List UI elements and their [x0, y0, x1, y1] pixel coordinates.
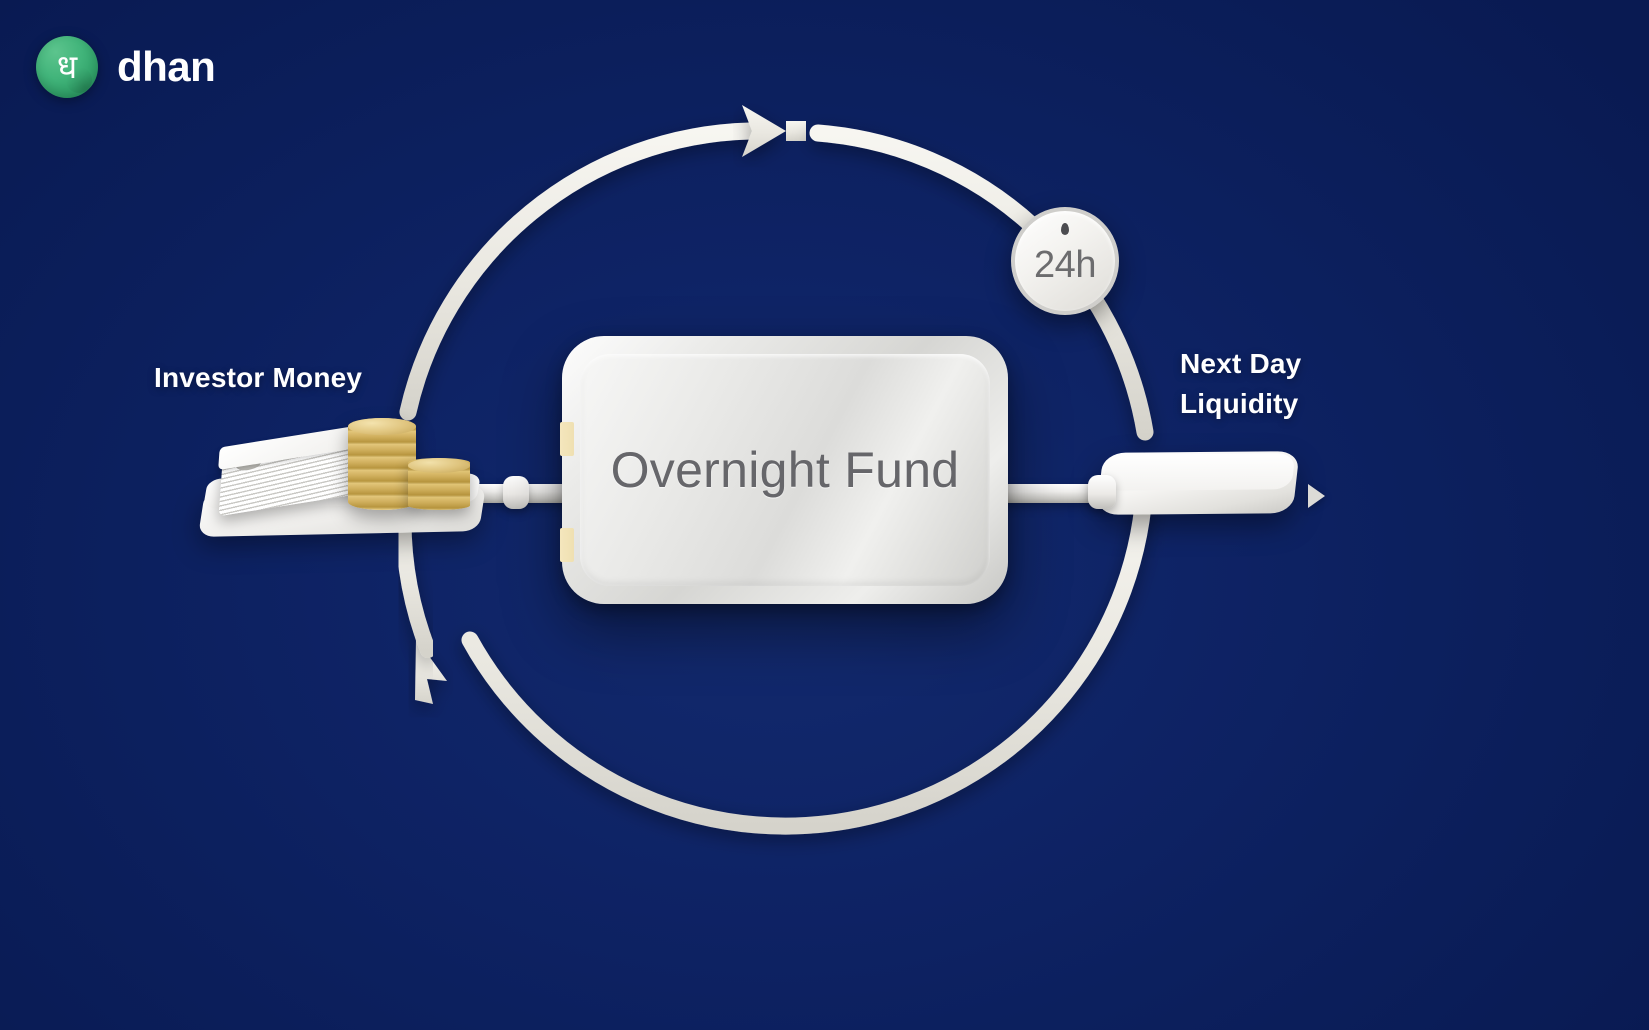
- output-flow-arrow-icon: [1308, 484, 1325, 508]
- overnight-fund-card-face: Overnight Fund: [580, 354, 990, 586]
- cycle-arrow-forward-head-stub: [786, 121, 806, 141]
- next-day-liquidity-label-line1: Next Day: [1180, 344, 1301, 384]
- investor-money-label: Investor Money: [154, 362, 362, 394]
- brand-glyph-text: ध: [57, 50, 77, 83]
- investor-money-node[interactable]: [196, 400, 516, 560]
- card-tab-upper-icon: [560, 422, 574, 456]
- card-tab-lower-icon: [560, 528, 574, 562]
- timer-badge-text: 24h: [1034, 244, 1096, 287]
- next-day-liquidity-label: Next Day Liquidity: [1180, 344, 1301, 424]
- dhan-devanagari-glyph-icon: ध: [36, 36, 98, 98]
- coin-stack-tall-icon: [348, 418, 416, 510]
- overnight-fund-title: Overnight Fund: [611, 441, 960, 499]
- brand-wordmark: dhan: [117, 46, 215, 88]
- timer-badge-24h[interactable]: 24h: [1011, 207, 1119, 315]
- overnight-fund-card[interactable]: Overnight Fund: [562, 336, 1008, 604]
- coin-stack-short-icon: [408, 458, 470, 510]
- clock-dial-marker-icon: [1061, 223, 1069, 235]
- next-day-liquidity-node[interactable]: [1096, 451, 1299, 515]
- connector-knob-right: [1088, 475, 1116, 509]
- next-day-liquidity-label-line2: Liquidity: [1180, 384, 1301, 424]
- diagram-canvas: ध dhan: [0, 0, 1649, 1030]
- brand-logo[interactable]: ध dhan: [36, 36, 215, 98]
